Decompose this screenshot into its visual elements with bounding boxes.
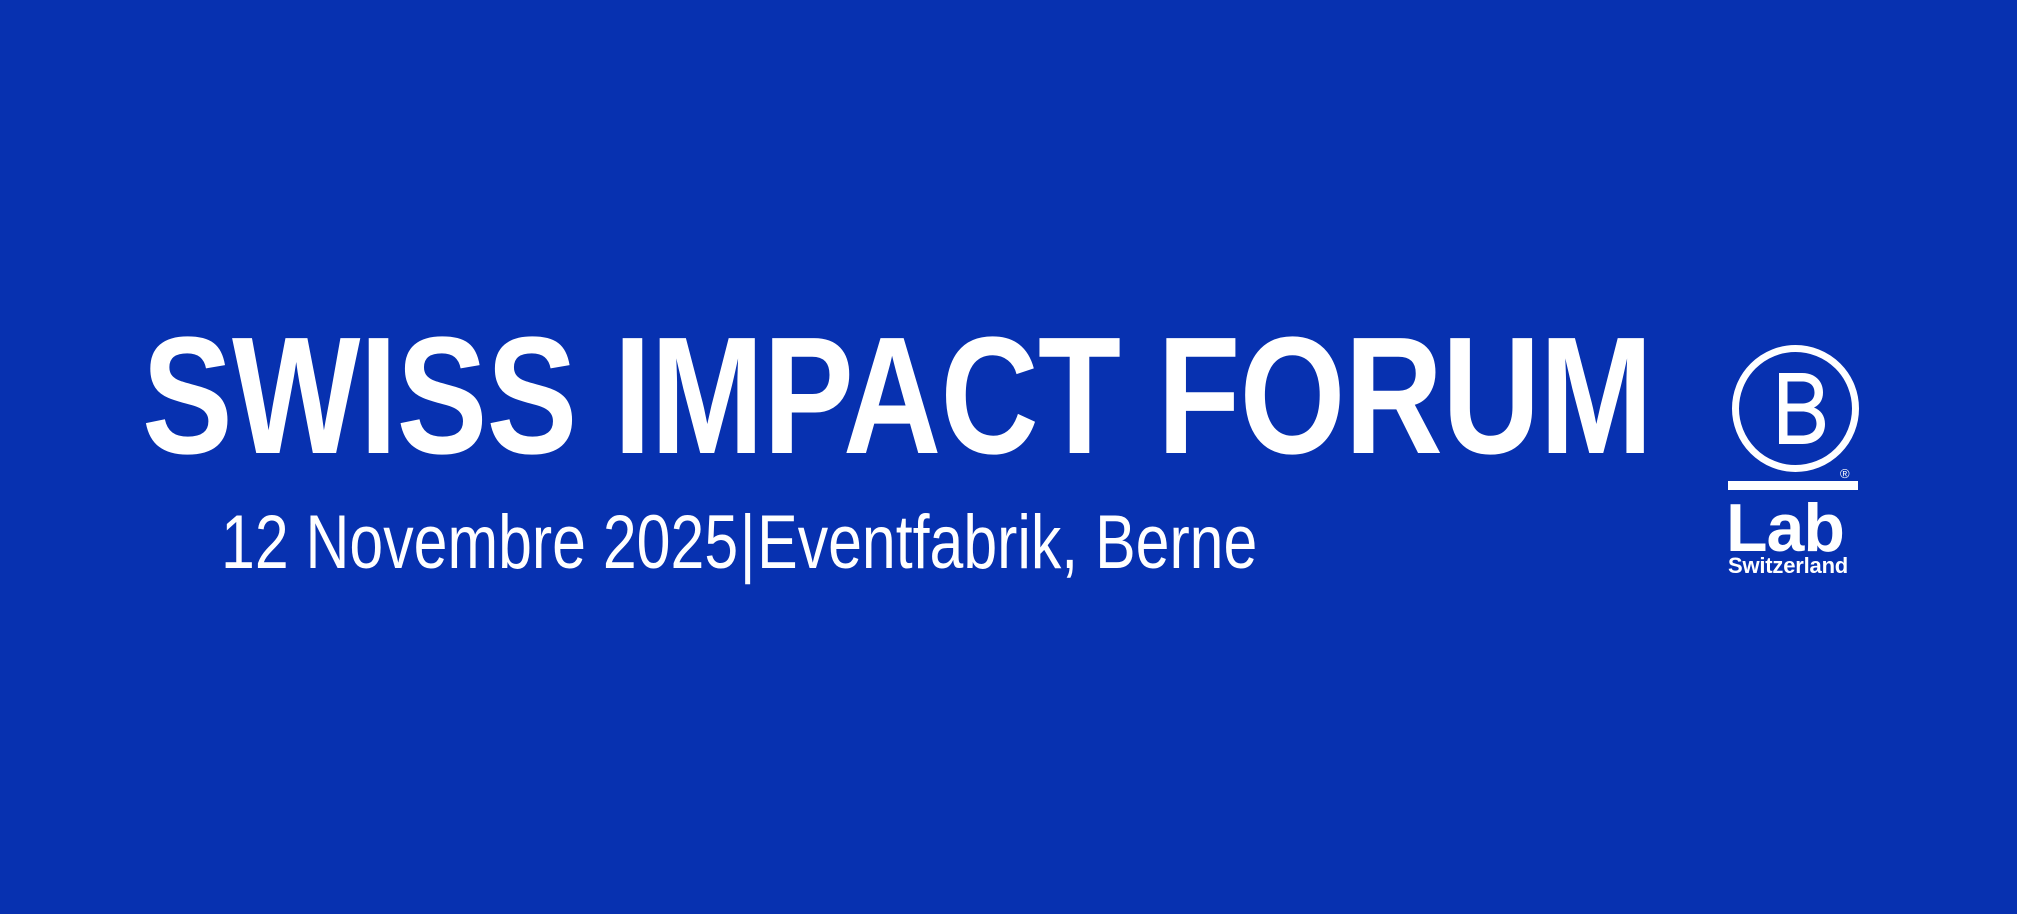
logo-divider-rule [1728, 481, 1858, 490]
page-title: SWISS IMPACT FORUM [142, 313, 1652, 480]
event-details: 12 Novembre 2025|Eventfabrik, Berne [221, 505, 1257, 581]
event-banner: SWISS IMPACT FORUM 12 Novembre 2025|Even… [0, 0, 2017, 914]
registered-trademark-icon: ® [1840, 468, 1852, 480]
logo-country-label: Switzerland [1728, 555, 1848, 577]
event-date: 12 Novembre 2025 [221, 500, 738, 585]
b-lab-switzerland-logo: ® Lab Switzerland [1726, 342, 1862, 590]
detail-separator: | [738, 500, 757, 585]
event-venue: Eventfabrik, Berne [757, 500, 1257, 585]
logo-wordmark: Lab [1726, 494, 1844, 562]
b-circle-icon [1729, 342, 1862, 475]
